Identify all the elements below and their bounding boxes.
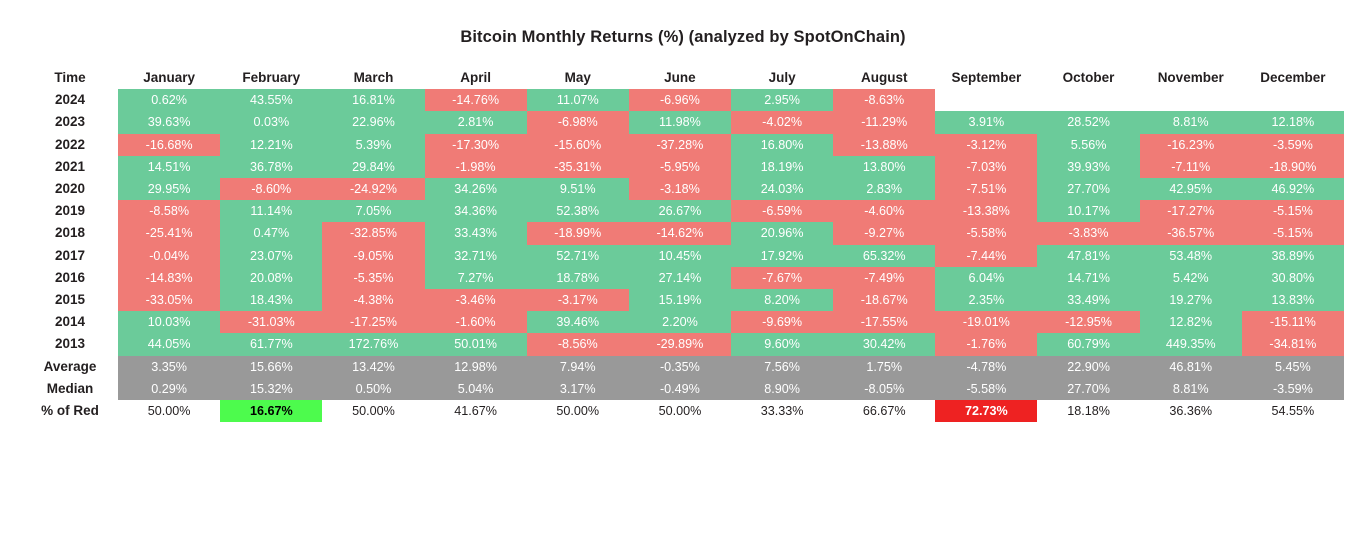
cell-2019-August: -4.60% [833, 200, 935, 222]
row-header-2017: 2017 [22, 245, 118, 267]
header-row: TimeJanuaryFebruaryMarchAprilMayJuneJuly… [22, 67, 1344, 89]
cell-Median-November: 8.81% [1140, 378, 1242, 400]
cell-2024-March: 16.81% [322, 89, 424, 111]
cell-2017-March: -9.05% [322, 245, 424, 267]
column-header-december: December [1242, 67, 1344, 89]
cell-2023-September: 3.91% [935, 111, 1037, 133]
cell-2022-December: -3.59% [1242, 134, 1344, 156]
table-row: 2022-16.68%12.21%5.39%-17.30%-15.60%-37.… [22, 134, 1344, 156]
cell-Median-October: 27.70% [1037, 378, 1139, 400]
cell-2019-September: -13.38% [935, 200, 1037, 222]
cell-2016-January: -14.83% [118, 267, 220, 289]
cell-2016-February: 20.08% [220, 267, 322, 289]
cell-2019-April: 34.36% [425, 200, 527, 222]
cell-2019-March: 7.05% [322, 200, 424, 222]
column-header-september: September [935, 67, 1037, 89]
cell-2015-September: 2.35% [935, 289, 1037, 311]
cell-2015-June: 15.19% [629, 289, 731, 311]
cell-2015-March: -4.38% [322, 289, 424, 311]
cell-2021-February: 36.78% [220, 156, 322, 178]
cell-2017-May: 52.71% [527, 245, 629, 267]
cell-2022-July: 16.80% [731, 134, 833, 156]
table-body: 20240.62%43.55%16.81%-14.76%11.07%-6.96%… [22, 89, 1344, 422]
cell-Median-February: 15.32% [220, 378, 322, 400]
table-row: 20240.62%43.55%16.81%-14.76%11.07%-6.96%… [22, 89, 1344, 111]
table-row: 2019-8.58%11.14%7.05%34.36%52.38%26.67%-… [22, 200, 1344, 222]
cell-2014-November: 12.82% [1140, 311, 1242, 333]
cell-2016-September: 6.04% [935, 267, 1037, 289]
table-row: 202029.95%-8.60%-24.92%34.26%9.51%-3.18%… [22, 178, 1344, 200]
column-header-november: November [1140, 67, 1242, 89]
cell-2020-January: 29.95% [118, 178, 220, 200]
cell-Median-September: -5.58% [935, 378, 1037, 400]
cell-2023-March: 22.96% [322, 111, 424, 133]
cell-2018-August: -9.27% [833, 222, 935, 244]
cell-% of Red-October: 18.18% [1037, 400, 1139, 422]
cell-2017-December: 38.89% [1242, 245, 1344, 267]
cell-2013-August: 30.42% [833, 333, 935, 355]
cell-2019-July: -6.59% [731, 200, 833, 222]
table-row: % of Red50.00%16.67%50.00%41.67%50.00%50… [22, 400, 1344, 422]
cell-2022-June: -37.28% [629, 134, 731, 156]
table-header: TimeJanuaryFebruaryMarchAprilMayJuneJuly… [22, 67, 1344, 89]
cell-2018-October: -3.83% [1037, 222, 1139, 244]
cell-2013-February: 61.77% [220, 333, 322, 355]
cell-2022-January: -16.68% [118, 134, 220, 156]
row-header-2019: 2019 [22, 200, 118, 222]
cell-2021-December: -18.90% [1242, 156, 1344, 178]
cell-2013-October: 60.79% [1037, 333, 1139, 355]
cell-Median-March: 0.50% [322, 378, 424, 400]
cell-Median-July: 8.90% [731, 378, 833, 400]
cell-Average-August: 1.75% [833, 356, 935, 378]
table-row: 202339.63%0.03%22.96%2.81%-6.98%11.98%-4… [22, 111, 1344, 133]
cell-2022-August: -13.88% [833, 134, 935, 156]
cell-2015-August: -18.67% [833, 289, 935, 311]
row-header-2020: 2020 [22, 178, 118, 200]
cell-2020-February: -8.60% [220, 178, 322, 200]
row-header-2023: 2023 [22, 111, 118, 133]
cell-2016-December: 30.80% [1242, 267, 1344, 289]
cell-2013-December: -34.81% [1242, 333, 1344, 355]
cell-Average-January: 3.35% [118, 356, 220, 378]
cell-2017-June: 10.45% [629, 245, 731, 267]
cell-2014-January: 10.03% [118, 311, 220, 333]
cell-2019-June: 26.67% [629, 200, 731, 222]
cell-2013-November: 449.35% [1140, 333, 1242, 355]
cell-Average-September: -4.78% [935, 356, 1037, 378]
cell-2024-July: 2.95% [731, 89, 833, 111]
cell-2018-June: -14.62% [629, 222, 731, 244]
row-header-2018: 2018 [22, 222, 118, 244]
row-header-average: Average [22, 356, 118, 378]
cell-2018-May: -18.99% [527, 222, 629, 244]
table-row: 201344.05%61.77%172.76%50.01%-8.56%-29.8… [22, 333, 1344, 355]
cell-2024-January: 0.62% [118, 89, 220, 111]
cell-2016-July: -7.67% [731, 267, 833, 289]
cell-2014-August: -17.55% [833, 311, 935, 333]
cell-2015-April: -3.46% [425, 289, 527, 311]
cell-Median-December: -3.59% [1242, 378, 1344, 400]
cell-2016-May: 18.78% [527, 267, 629, 289]
cell-2015-February: 18.43% [220, 289, 322, 311]
cell-% of Red-June: 50.00% [629, 400, 731, 422]
cell-Average-July: 7.56% [731, 356, 833, 378]
cell-2022-March: 5.39% [322, 134, 424, 156]
cell-2018-March: -32.85% [322, 222, 424, 244]
cell-2014-December: -15.11% [1242, 311, 1344, 333]
column-header-time: Time [22, 67, 118, 89]
column-header-may: May [527, 67, 629, 89]
cell-% of Red-January: 50.00% [118, 400, 220, 422]
row-header-2021: 2021 [22, 156, 118, 178]
table-row: 2016-14.83%20.08%-5.35%7.27%18.78%27.14%… [22, 267, 1344, 289]
cell-Average-March: 13.42% [322, 356, 424, 378]
cell-2020-May: 9.51% [527, 178, 629, 200]
cell-2023-August: -11.29% [833, 111, 935, 133]
cell-Median-April: 5.04% [425, 378, 527, 400]
cell-2013-April: 50.01% [425, 333, 527, 355]
cell-% of Red-May: 50.00% [527, 400, 629, 422]
cell-2023-October: 28.52% [1037, 111, 1139, 133]
cell-2024-May: 11.07% [527, 89, 629, 111]
column-header-february: February [220, 67, 322, 89]
row-header-of-red: % of Red [22, 400, 118, 422]
row-header-2015: 2015 [22, 289, 118, 311]
cell-Average-October: 22.90% [1037, 356, 1139, 378]
cell-2013-July: 9.60% [731, 333, 833, 355]
cell-2023-January: 39.63% [118, 111, 220, 133]
table-row: 2015-33.05%18.43%-4.38%-3.46%-3.17%15.19… [22, 289, 1344, 311]
heatmap-page: Bitcoin Monthly Returns (%) (analyzed by… [0, 0, 1366, 553]
cell-Average-February: 15.66% [220, 356, 322, 378]
cell-2020-November: 42.95% [1140, 178, 1242, 200]
cell-% of Red-March: 50.00% [322, 400, 424, 422]
cell-2015-December: 13.83% [1242, 289, 1344, 311]
cell-2017-January: -0.04% [118, 245, 220, 267]
cell-% of Red-August: 66.67% [833, 400, 935, 422]
cell-2023-April: 2.81% [425, 111, 527, 133]
cell-2024-October [1037, 89, 1139, 111]
cell-2021-March: 29.84% [322, 156, 424, 178]
cell-2024-February: 43.55% [220, 89, 322, 111]
table-row: 202114.51%36.78%29.84%-1.98%-35.31%-5.95… [22, 156, 1344, 178]
column-header-june: June [629, 67, 731, 89]
cell-2017-February: 23.07% [220, 245, 322, 267]
cell-2020-October: 27.70% [1037, 178, 1139, 200]
table-row: 201410.03%-31.03%-17.25%-1.60%39.46%2.20… [22, 311, 1344, 333]
cell-2022-February: 12.21% [220, 134, 322, 156]
row-header-2022: 2022 [22, 134, 118, 156]
cell-2019-October: 10.17% [1037, 200, 1139, 222]
row-header-2016: 2016 [22, 267, 118, 289]
column-header-april: April [425, 67, 527, 89]
cell-2023-June: 11.98% [629, 111, 731, 133]
cell-2018-December: -5.15% [1242, 222, 1344, 244]
cell-2016-June: 27.14% [629, 267, 731, 289]
column-header-october: October [1037, 67, 1139, 89]
cell-2022-April: -17.30% [425, 134, 527, 156]
cell-2022-May: -15.60% [527, 134, 629, 156]
cell-2021-October: 39.93% [1037, 156, 1139, 178]
cell-2019-February: 11.14% [220, 200, 322, 222]
cell-2024-December [1242, 89, 1344, 111]
cell-2014-March: -17.25% [322, 311, 424, 333]
cell-Median-June: -0.49% [629, 378, 731, 400]
cell-2021-July: 18.19% [731, 156, 833, 178]
cell-2013-January: 44.05% [118, 333, 220, 355]
cell-2014-October: -12.95% [1037, 311, 1139, 333]
row-header-2024: 2024 [22, 89, 118, 111]
cell-2020-April: 34.26% [425, 178, 527, 200]
cell-2016-October: 14.71% [1037, 267, 1139, 289]
cell-2018-July: 20.96% [731, 222, 833, 244]
cell-2013-March: 172.76% [322, 333, 424, 355]
cell-2017-August: 65.32% [833, 245, 935, 267]
cell-2018-September: -5.58% [935, 222, 1037, 244]
cell-2022-October: 5.56% [1037, 134, 1139, 156]
cell-Median-August: -8.05% [833, 378, 935, 400]
cell-2024-August: -8.63% [833, 89, 935, 111]
cell-2017-October: 47.81% [1037, 245, 1139, 267]
cell-% of Red-July: 33.33% [731, 400, 833, 422]
cell-2021-April: -1.98% [425, 156, 527, 178]
cell-2023-December: 12.18% [1242, 111, 1344, 133]
cell-Average-June: -0.35% [629, 356, 731, 378]
cell-% of Red-September: 72.73% [935, 400, 1037, 422]
cell-2015-November: 19.27% [1140, 289, 1242, 311]
cell-2021-May: -35.31% [527, 156, 629, 178]
cell-2016-April: 7.27% [425, 267, 527, 289]
cell-2020-August: 2.83% [833, 178, 935, 200]
cell-Average-November: 46.81% [1140, 356, 1242, 378]
page-title: Bitcoin Monthly Returns (%) (analyzed by… [22, 0, 1344, 67]
cell-Average-May: 7.94% [527, 356, 629, 378]
cell-Median-May: 3.17% [527, 378, 629, 400]
cell-2023-July: -4.02% [731, 111, 833, 133]
cell-2014-May: 39.46% [527, 311, 629, 333]
column-header-july: July [731, 67, 833, 89]
cell-Average-April: 12.98% [425, 356, 527, 378]
cell-2020-December: 46.92% [1242, 178, 1344, 200]
cell-2019-November: -17.27% [1140, 200, 1242, 222]
cell-2013-September: -1.76% [935, 333, 1037, 355]
cell-2018-February: 0.47% [220, 222, 322, 244]
cell-2021-August: 13.80% [833, 156, 935, 178]
cell-% of Red-April: 41.67% [425, 400, 527, 422]
cell-2019-December: -5.15% [1242, 200, 1344, 222]
column-header-january: January [118, 67, 220, 89]
cell-2013-June: -29.89% [629, 333, 731, 355]
cell-2021-January: 14.51% [118, 156, 220, 178]
cell-2024-June: -6.96% [629, 89, 731, 111]
cell-2021-November: -7.11% [1140, 156, 1242, 178]
cell-% of Red-November: 36.36% [1140, 400, 1242, 422]
cell-2013-May: -8.56% [527, 333, 629, 355]
bitcoin-monthly-returns-table: TimeJanuaryFebruaryMarchAprilMayJuneJuly… [22, 67, 1344, 422]
cell-2016-August: -7.49% [833, 267, 935, 289]
cell-2014-September: -19.01% [935, 311, 1037, 333]
cell-2021-September: -7.03% [935, 156, 1037, 178]
table-row: Average3.35%15.66%13.42%12.98%7.94%-0.35… [22, 356, 1344, 378]
cell-2019-January: -8.58% [118, 200, 220, 222]
column-header-august: August [833, 67, 935, 89]
cell-2017-September: -7.44% [935, 245, 1037, 267]
cell-2015-October: 33.49% [1037, 289, 1139, 311]
cell-2014-April: -1.60% [425, 311, 527, 333]
cell-2014-February: -31.03% [220, 311, 322, 333]
cell-2020-July: 24.03% [731, 178, 833, 200]
table-row: 2018-25.41%0.47%-32.85%33.43%-18.99%-14.… [22, 222, 1344, 244]
cell-% of Red-February: 16.67% [220, 400, 322, 422]
cell-2023-May: -6.98% [527, 111, 629, 133]
cell-2018-April: 33.43% [425, 222, 527, 244]
row-header-2013: 2013 [22, 333, 118, 355]
cell-2020-September: -7.51% [935, 178, 1037, 200]
table-row: 2017-0.04%23.07%-9.05%32.71%52.71%10.45%… [22, 245, 1344, 267]
cell-2024-April: -14.76% [425, 89, 527, 111]
cell-2017-April: 32.71% [425, 245, 527, 267]
cell-2017-November: 53.48% [1140, 245, 1242, 267]
cell-% of Red-December: 54.55% [1242, 400, 1344, 422]
cell-2023-February: 0.03% [220, 111, 322, 133]
row-header-median: Median [22, 378, 118, 400]
cell-2021-June: -5.95% [629, 156, 731, 178]
cell-2018-January: -25.41% [118, 222, 220, 244]
cell-2019-May: 52.38% [527, 200, 629, 222]
cell-2015-May: -3.17% [527, 289, 629, 311]
cell-2022-November: -16.23% [1140, 134, 1242, 156]
cell-Median-January: 0.29% [118, 378, 220, 400]
cell-2014-July: -9.69% [731, 311, 833, 333]
cell-2022-September: -3.12% [935, 134, 1037, 156]
cell-Average-December: 5.45% [1242, 356, 1344, 378]
cell-2014-June: 2.20% [629, 311, 731, 333]
cell-2015-July: 8.20% [731, 289, 833, 311]
table-row: Median0.29%15.32%0.50%5.04%3.17%-0.49%8.… [22, 378, 1344, 400]
cell-2016-November: 5.42% [1140, 267, 1242, 289]
column-header-march: March [322, 67, 424, 89]
cell-2018-November: -36.57% [1140, 222, 1242, 244]
row-header-2014: 2014 [22, 311, 118, 333]
cell-2016-March: -5.35% [322, 267, 424, 289]
cell-2015-January: -33.05% [118, 289, 220, 311]
cell-2020-March: -24.92% [322, 178, 424, 200]
cell-2023-November: 8.81% [1140, 111, 1242, 133]
cell-2024-November [1140, 89, 1242, 111]
cell-2017-July: 17.92% [731, 245, 833, 267]
cell-2024-September [935, 89, 1037, 111]
cell-2020-June: -3.18% [629, 178, 731, 200]
